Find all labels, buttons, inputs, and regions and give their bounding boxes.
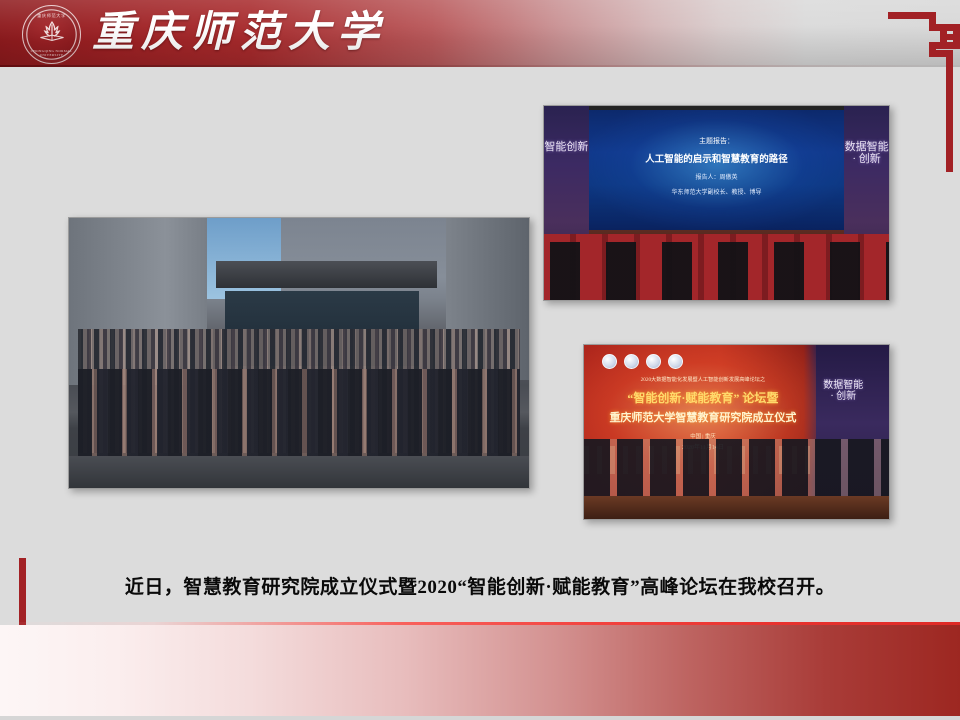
- group-photo-crowd-front: [78, 369, 520, 455]
- hall-audience: [544, 242, 889, 300]
- panel-backdrop-line-2: 重庆师范大学智慧教育研究院成立仪式: [593, 409, 813, 425]
- university-seal-icon: 重庆师范大学 CHONGQING NORMAL UNIVERSITY: [22, 5, 81, 64]
- panel-backdrop-line-1: “智能创新·赋能教育” 论坛暨: [593, 389, 813, 406]
- panel-photo[interactable]: 数据智能 · 创新 2020大数据智能化发展暨人工智能创新发展高峰论坛之 “智能…: [583, 344, 890, 520]
- hall-banner-left-text: 智能创新: [544, 141, 589, 153]
- slide-caption: 近日，智慧教育研究院成立仪式暨2020“智能创新·赋能教育”高峰论坛在我校召开。: [0, 572, 960, 599]
- group-photo-canopy: [216, 261, 437, 288]
- sponsor-logo-icon: [624, 354, 639, 369]
- panel-sponsor-logos: [602, 354, 683, 369]
- header-divider: [0, 65, 960, 67]
- panel-banner-right-text: 数据智能 · 创新: [822, 380, 865, 402]
- hall-screen-line-3: 报告人：周傲英: [589, 172, 844, 181]
- sponsor-logo-icon: [602, 354, 617, 369]
- hall-projection-screen: 主题报告： 人工智能的启示和智慧教育的路径 报告人：周傲英 华东师范大学副校长、…: [589, 110, 844, 230]
- bottom-gradient-band: [0, 625, 960, 718]
- group-photo-ground: [69, 456, 529, 488]
- page-header: 重庆师范大学 CHONGQING NORMAL UNIVERSITY 重庆师范大…: [0, 0, 960, 67]
- sponsor-logo-icon: [668, 354, 683, 369]
- panel-table: [584, 496, 889, 519]
- auditorium-photo[interactable]: 智能创新 数据智能 · 创新 主题报告： 人工智能的启示和智慧教育的路径 报告人…: [543, 105, 890, 301]
- hall-screen-line-2: 人工智能的启示和智慧教育的路径: [589, 151, 844, 165]
- university-wordmark: 重庆师范大学: [92, 4, 386, 62]
- chinese-corner-ornament-top-right: [888, 12, 960, 172]
- panel-backdrop-line-0: 2020大数据智能化发展暨人工智能创新发展高峰论坛之: [593, 376, 813, 383]
- slide-canvas: 重庆师范大学 CHONGQING NORMAL UNIVERSITY 重庆师范大…: [0, 0, 960, 720]
- seal-ring-text-bottom: CHONGQING NORMAL UNIVERSITY: [23, 49, 80, 57]
- seal-emblem-mark: [37, 20, 67, 44]
- hall-banner-right-text: 数据智能 · 创新: [844, 141, 889, 165]
- hall-screen-line-4: 华东师范大学副校长、教授、博导: [589, 187, 844, 196]
- bottom-edge-strip: [0, 716, 960, 720]
- sponsor-logo-icon: [646, 354, 661, 369]
- hall-screen-line-1: 主题报告：: [589, 136, 844, 146]
- seal-ring-text-top: 重庆师范大学: [23, 13, 80, 19]
- group-photo[interactable]: [68, 217, 530, 489]
- panel-seated-guests: [584, 439, 889, 502]
